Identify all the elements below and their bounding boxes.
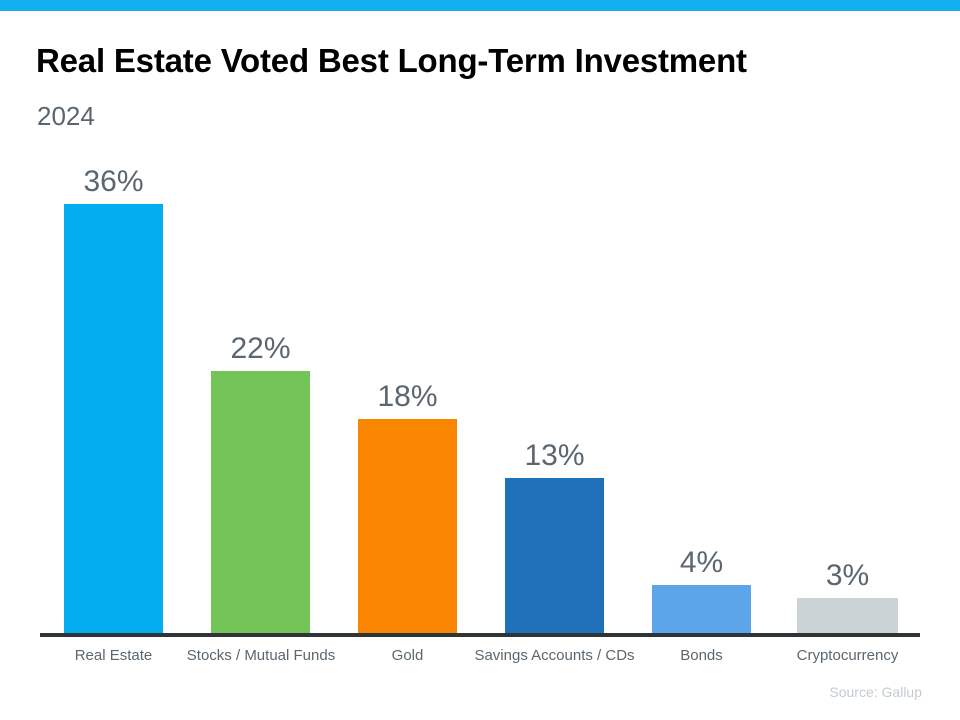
bar-category-label-real-estate: Real Estate xyxy=(44,647,183,664)
bar-bonds xyxy=(652,585,751,633)
bar-category-label-cryptocurrency: Cryptocurrency xyxy=(783,647,912,664)
x-axis-line xyxy=(40,633,920,637)
bar-value-label-real-estate: 36% xyxy=(64,167,163,197)
bar-savings-accounts-cds xyxy=(505,478,604,633)
bar-value-label-gold: 18% xyxy=(358,382,457,412)
bar-value-label-savings-accounts-cds: 13% xyxy=(505,441,604,471)
bar-category-label-savings-accounts-cds: Savings Accounts / CDs xyxy=(464,647,645,664)
bar-category-label-gold: Gold xyxy=(358,647,457,664)
bar-cryptocurrency xyxy=(797,598,898,633)
slide-canvas: Real Estate Voted Best Long-Term Investm… xyxy=(0,0,960,720)
source-attribution: Source: Gallup xyxy=(829,684,922,700)
bar-chart-plot-area: 36% Real Estate 22% Stocks / Mutual Fund… xyxy=(0,0,960,720)
bar-value-label-bonds: 4% xyxy=(652,548,751,578)
bar-category-label-bonds: Bonds xyxy=(652,647,751,664)
bar-real-estate xyxy=(64,204,163,633)
bar-value-label-stocks-mutual-funds: 22% xyxy=(211,334,310,364)
bar-value-label-cryptocurrency: 3% xyxy=(797,561,898,591)
bar-gold xyxy=(358,419,457,633)
bar-stocks-mutual-funds xyxy=(211,371,310,633)
bar-category-label-stocks-mutual-funds: Stocks / Mutual Funds xyxy=(176,647,346,664)
